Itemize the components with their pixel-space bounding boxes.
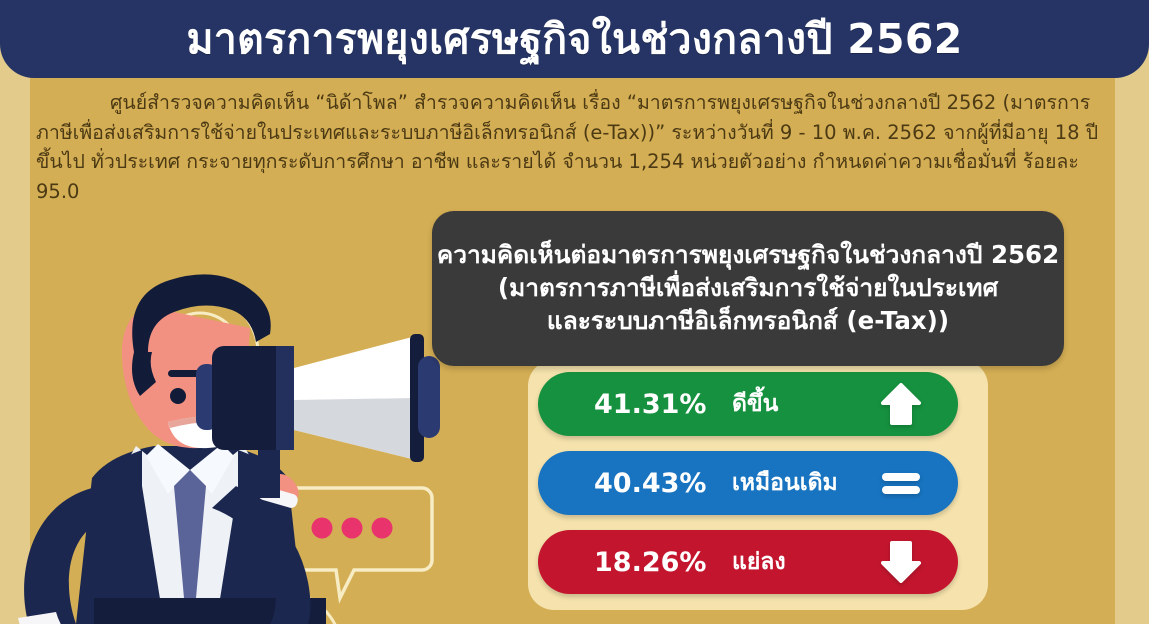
result-percent: 41.31% (594, 389, 706, 420)
result-bar-better[interactable]: 41.31% ดีขึ้น (538, 372, 958, 436)
speech-bubble-icon (286, 488, 432, 598)
result-percent: 40.43% (594, 468, 706, 499)
question-line-3: และระบบภาษีอิเล็กทรอนิกส์ (e-Tax)) (547, 305, 949, 338)
intro-paragraph: ศูนย์สำรวจความคิดเห็น “นิด้าโพล” สำรวจคว… (36, 88, 1114, 207)
result-bar-same[interactable]: 40.43% เหมือนเดิม (538, 451, 958, 515)
equals-icon (876, 460, 926, 506)
question-line-2: (มาตรการภาษีเพื่อส่งเสริมการใช้จ่ายในประ… (498, 272, 998, 305)
arrow-down-icon (876, 539, 926, 585)
question-box: ความคิดเห็นต่อมาตรการพยุงเศรษฐกิจในช่วงก… (432, 211, 1064, 366)
right-edge-strip (1115, 0, 1149, 624)
result-bar-worse[interactable]: 18.26% แย่ลง (538, 530, 958, 594)
result-label: เหมือนเดิม (732, 465, 838, 501)
results-list: 41.31% ดีขึ้น 40.43% เหมือนเดิม 18.26% แ… (538, 372, 958, 594)
infographic-canvas: มาตรการพยุงเศรษฐกิจในช่วงกลางปี 2562 ศูน… (0, 0, 1149, 624)
intro-paragraph-block: ศูนย์สำรวจความคิดเห็น “นิด้าโพล” สำรวจคว… (36, 88, 1114, 207)
result-label: ดีขึ้น (732, 386, 778, 422)
title-bar: มาตรการพยุงเศรษฐกิจในช่วงกลางปี 2562 (0, 0, 1149, 78)
page-title: มาตรการพยุงเศรษฐกิจในช่วงกลางปี 2562 (186, 19, 962, 60)
question-line-1: ความคิดเห็นต่อมาตรการพยุงเศรษฐกิจในช่วงก… (437, 239, 1059, 272)
result-percent: 18.26% (594, 547, 706, 578)
arrow-up-icon (876, 381, 926, 427)
result-label: แย่ลง (732, 544, 786, 580)
